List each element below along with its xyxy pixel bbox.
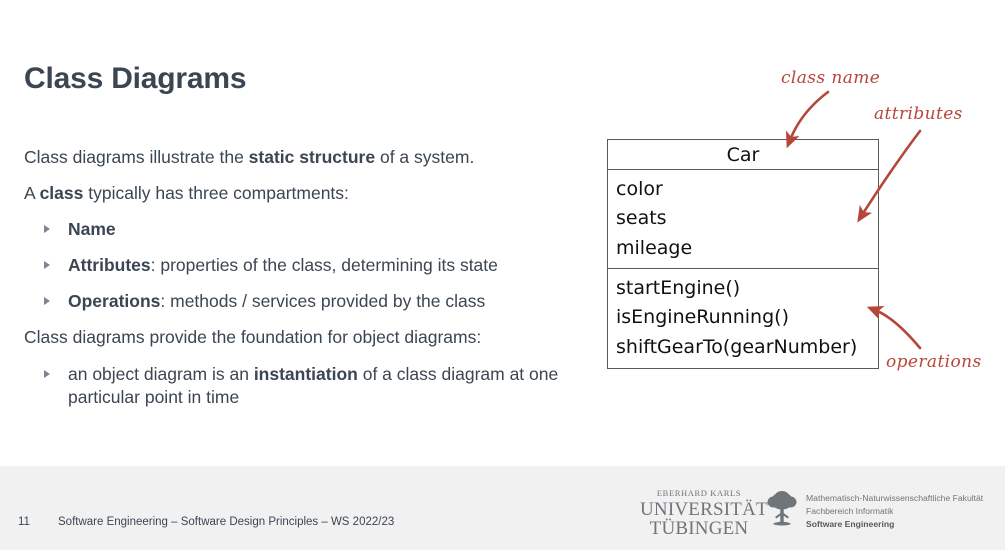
uml-attribute: seats [616,204,870,233]
compartments-text-pre: A [24,183,40,203]
bullet-label-bold: Name [68,219,116,239]
footer-course-line: Software Engineering – Software Design P… [58,516,394,528]
list-item: an object diagram is an instantiation of… [24,363,590,409]
uml-class-name: Car [727,144,760,166]
uml-operation: startEngine() [616,274,870,303]
bullet-label-rest: : properties of the class, determining i… [151,255,498,275]
slide-canvas: Class Diagrams Class diagrams illustrate… [0,0,1005,550]
list-item: Attributes: properties of the class, det… [24,254,590,277]
annotation-attributes: attributes [874,104,963,124]
intro-text-bold: static structure [249,147,375,167]
tree-logo-icon [765,490,799,530]
faculty-line-3: Software Engineering [806,518,983,531]
annotation-class-name: class name [781,68,880,88]
faculty-line-1: Mathematisch-Naturwissenschaftliche Faku… [806,492,983,505]
compartment-bullet-list: Name Attributes: properties of the class… [24,218,590,313]
page-title: Class Diagrams [24,62,246,95]
list-item: Operations: methods / services provided … [24,290,590,313]
annotation-operations: operations [886,352,982,372]
university-line-tubingen: TÜBINGEN [640,519,758,538]
arrow-operations [875,310,920,348]
object-diagram-bullet-list: an object diagram is an instantiation of… [24,363,590,409]
uml-attribute: color [616,175,870,204]
uml-attributes-compartment: color seats mileage [608,170,878,269]
sub-bullet-pre: an object diagram is an [68,364,254,384]
intro-text-pre: Class diagrams illustrate the [24,147,249,167]
university-line-eberhard: EBERHARD KARLS [640,489,758,498]
bullet-label-rest: : methods / services provided by the cla… [160,291,485,311]
intro-text-post: of a system. [375,147,474,167]
faculty-text-block: Mathematisch-Naturwissenschaftliche Faku… [806,492,983,531]
bullet-label-bold: Operations [68,291,160,311]
faculty-line-2: Fachbereich Informatik [806,505,983,518]
sub-bullet-bold: instantiation [254,364,358,384]
uml-class-name-compartment: Car [608,140,878,170]
compartments-text-bold: class [40,183,84,203]
paragraph-intro: Class diagrams illustrate the static str… [24,146,590,169]
footer-page-number: 11 [18,516,30,528]
uml-operation: isEngineRunning() [616,303,870,332]
uml-operation: shiftGearTo(gearNumber) [616,333,870,362]
slide-body: Class diagrams illustrate the static str… [24,146,590,422]
paragraph-compartments: A class typically has three compartments… [24,182,590,205]
triangle-bullet-icon [44,261,50,269]
uml-class-box: Car color seats mileage startEngine() is… [607,139,879,369]
triangle-bullet-icon [44,370,50,378]
university-line-universitat: UNIVERSITÄT [640,500,758,519]
paragraph-foundation: Class diagrams provide the foundation fo… [24,326,590,349]
university-wordmark: EBERHARD KARLS UNIVERSITÄT TÜBINGEN [640,489,758,538]
triangle-bullet-icon [44,225,50,233]
bullet-label-bold: Attributes [68,255,151,275]
uml-attribute: mileage [616,234,870,263]
uml-operations-compartment: startEngine() isEngineRunning() shiftGea… [608,269,878,366]
arrow-class-name [790,92,828,140]
compartments-text-post: typically has three compartments: [83,183,349,203]
triangle-bullet-icon [44,297,50,305]
list-item: Name [24,218,590,241]
